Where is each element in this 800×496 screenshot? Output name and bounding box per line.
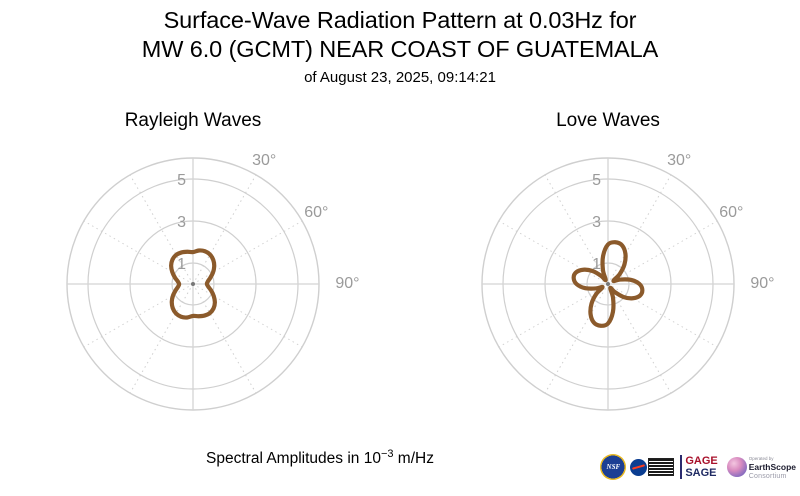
nasa-meatball-icon	[630, 459, 647, 476]
theta-tick-label: 60°	[304, 204, 328, 221]
gage-sage-logo: GAGE SAGE	[680, 455, 717, 479]
polar-plot-love: 30°60°90°135	[438, 138, 778, 430]
panel-title-rayleigh: Rayleigh Waves	[23, 110, 363, 132]
theta-tick-label: 60°	[719, 204, 743, 221]
r-tick-label: 5	[177, 172, 186, 189]
panel-title-love: Love Waves	[438, 110, 778, 132]
origin-marker	[606, 282, 610, 286]
caption-prefix: Spectral Amplitudes in 10	[206, 450, 381, 467]
panel-love: Love Waves 30°60°90°135	[438, 110, 778, 430]
theta-tick-label: 30°	[667, 152, 691, 169]
polar-axes: 30°60°90°135	[438, 138, 778, 430]
caption-spectral-amplitudes: Spectral Amplitudes in 10−3 m/Hz	[0, 448, 640, 468]
title-line-2: MW 6.0 (GCMT) NEAR COAST OF GUATEMALA	[0, 35, 800, 64]
r-tick-label: 1	[177, 256, 186, 273]
r-tick-label: 5	[592, 172, 601, 189]
caption-suffix: m/Hz	[393, 450, 433, 467]
earthscope-text: Operated by EarthScope Consortium	[749, 454, 796, 481]
title-line-1: Surface-Wave Radiation Pattern at 0.03Hz…	[0, 6, 800, 35]
origin-marker	[191, 282, 195, 286]
theta-tick-label: 30°	[252, 152, 276, 169]
polar-plot-rayleigh: 30°60°90°135	[23, 138, 363, 430]
r-tick-label: 3	[177, 214, 186, 231]
caption-exponent: −3	[381, 448, 394, 460]
panel-rayleigh: Rayleigh Waves 30°60°90°135	[23, 110, 363, 430]
polar-axes: 30°60°90°135	[23, 138, 363, 430]
page-title: Surface-Wave Radiation Pattern at 0.03Hz…	[0, 6, 800, 89]
theta-tick-label: 90°	[750, 275, 774, 292]
gage-label: GAGE	[685, 455, 717, 467]
earthscope-consortium: Consortium	[749, 472, 796, 481]
earthscope-logo: Operated by EarthScope Consortium	[727, 454, 796, 481]
nasa-wordmark-icon	[648, 458, 674, 476]
sage-label: SAGE	[685, 467, 717, 479]
nasa-logo	[630, 458, 674, 476]
earthscope-name: EarthScope	[749, 463, 796, 472]
earthscope-mark-icon	[727, 457, 747, 477]
theta-tick-label: 90°	[335, 275, 359, 292]
r-tick-label: 3	[592, 214, 601, 231]
nsf-logo	[600, 454, 626, 480]
title-subtitle: of August 23, 2025, 09:14:21	[0, 67, 800, 89]
logo-strip: GAGE SAGE Operated by EarthScope Consort…	[600, 450, 796, 484]
